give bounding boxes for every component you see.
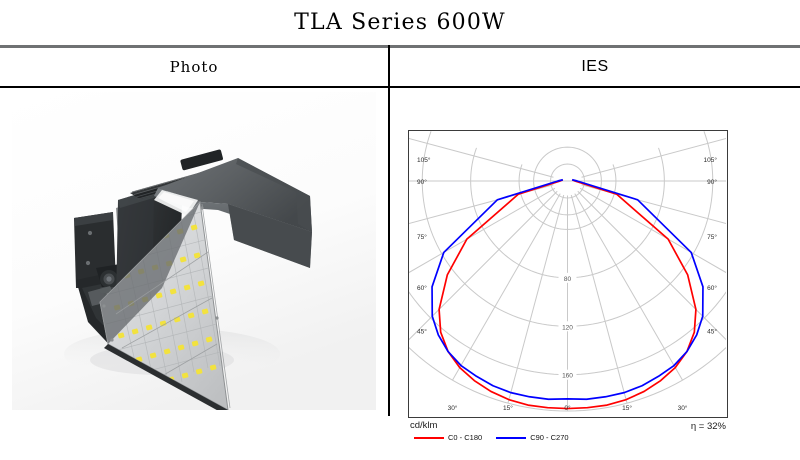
table-cell-ies: 105°105°90°90°75°75°60°60°45°45°30°15°0°… (390, 88, 800, 416)
legend-label-c90-c270: C90 - C270 (530, 433, 568, 442)
svg-text:45°: 45° (417, 328, 427, 336)
svg-text:0°: 0° (564, 404, 571, 412)
legend-item-c0-c180: C0 - C180 (414, 433, 482, 442)
table-header-cell-ies: IES (390, 48, 800, 86)
legend-item-c90-c270: C90 - C270 (496, 433, 568, 442)
table-cell-photo (0, 88, 388, 416)
svg-text:30°: 30° (678, 404, 688, 412)
table-header-label-photo: Photo (170, 58, 219, 76)
svg-text:15°: 15° (503, 404, 513, 412)
table-header-label-ies: IES (581, 58, 608, 76)
product-photo-stage (12, 92, 376, 410)
ies-efficiency-label: η = 32% (691, 421, 726, 432)
legend-label-c0-c180: C0 - C180 (448, 433, 482, 442)
svg-text:60°: 60° (707, 284, 717, 292)
svg-text:120: 120 (562, 324, 573, 331)
svg-text:160: 160 (562, 373, 573, 380)
spec-table: Photo IES (0, 45, 800, 416)
legend-swatch-blue (496, 437, 526, 439)
svg-text:45°: 45° (707, 328, 717, 336)
svg-text:75°: 75° (417, 233, 427, 241)
ies-chart-footer: cd/klm η = 32% C0 - C180 C90 - C270 (408, 420, 728, 460)
svg-text:80: 80 (564, 276, 572, 283)
product-spec-sheet: TLA Series 600W Photo IES (0, 0, 800, 416)
svg-text:105°: 105° (704, 156, 718, 164)
legend-swatch-red (414, 437, 444, 439)
ies-units-label: cd/klm (410, 420, 437, 431)
page-title: TLA Series 600W (294, 10, 506, 35)
table-header-cell-photo: Photo (0, 48, 388, 86)
product-photo-led-floodlight (12, 92, 376, 410)
ies-polar-plot-svg: 105°105°90°90°75°75°60°60°45°45°30°15°0°… (409, 131, 726, 416)
svg-text:30°: 30° (448, 404, 458, 412)
svg-text:105°: 105° (417, 156, 431, 164)
svg-text:60°: 60° (417, 284, 427, 292)
svg-text:90°: 90° (707, 178, 717, 186)
page-title-bar: TLA Series 600W (0, 0, 800, 45)
svg-text:90°: 90° (417, 178, 427, 186)
ies-polar-chart: 105°105°90°90°75°75°60°60°45°45°30°15°0°… (408, 130, 728, 418)
svg-text:75°: 75° (707, 233, 717, 241)
ies-legend: C0 - C180 C90 - C270 (414, 433, 569, 442)
table-header-row: Photo IES (0, 48, 800, 86)
svg-text:15°: 15° (622, 404, 632, 412)
ies-grid (409, 131, 726, 411)
